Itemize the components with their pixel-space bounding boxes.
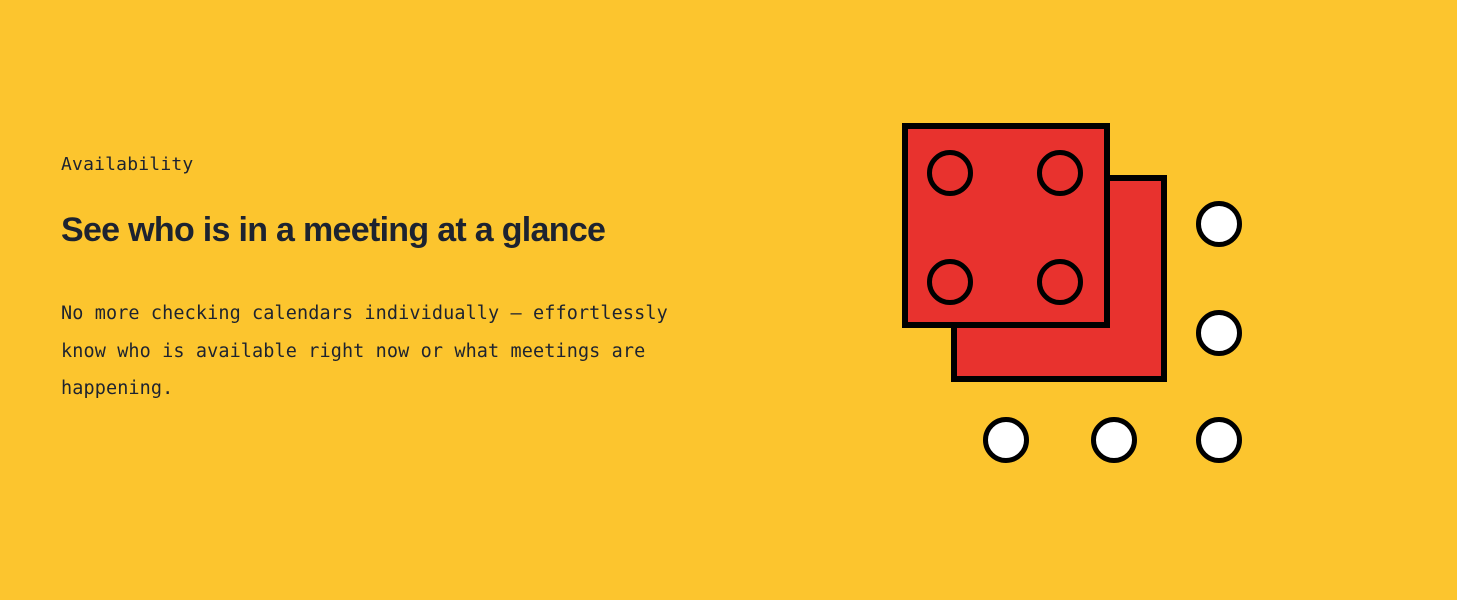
body-paragraph: No more checking calendars individually … xyxy=(61,295,721,408)
pip-bottom-right-icon xyxy=(1037,259,1083,305)
availability-feature-card: Availability See who is in a meeting at … xyxy=(0,0,1457,600)
red-square-front-icon xyxy=(902,123,1110,328)
dot-bottom-2-icon xyxy=(1091,417,1137,463)
pip-top-right-icon xyxy=(1037,150,1083,196)
dot-right-1-icon xyxy=(1196,201,1242,247)
dot-bottom-1-icon xyxy=(983,417,1029,463)
pip-top-left-icon xyxy=(927,150,973,196)
eyebrow-label: Availability xyxy=(61,152,741,178)
page-title: See who is in a meeting at a glance xyxy=(61,209,741,251)
text-column: Availability See who is in a meeting at … xyxy=(61,152,741,408)
dot-right-3-icon xyxy=(1196,417,1242,463)
pip-bottom-left-icon xyxy=(927,259,973,305)
red-square-back-icon xyxy=(951,175,1167,382)
dot-right-2-icon xyxy=(1196,310,1242,356)
